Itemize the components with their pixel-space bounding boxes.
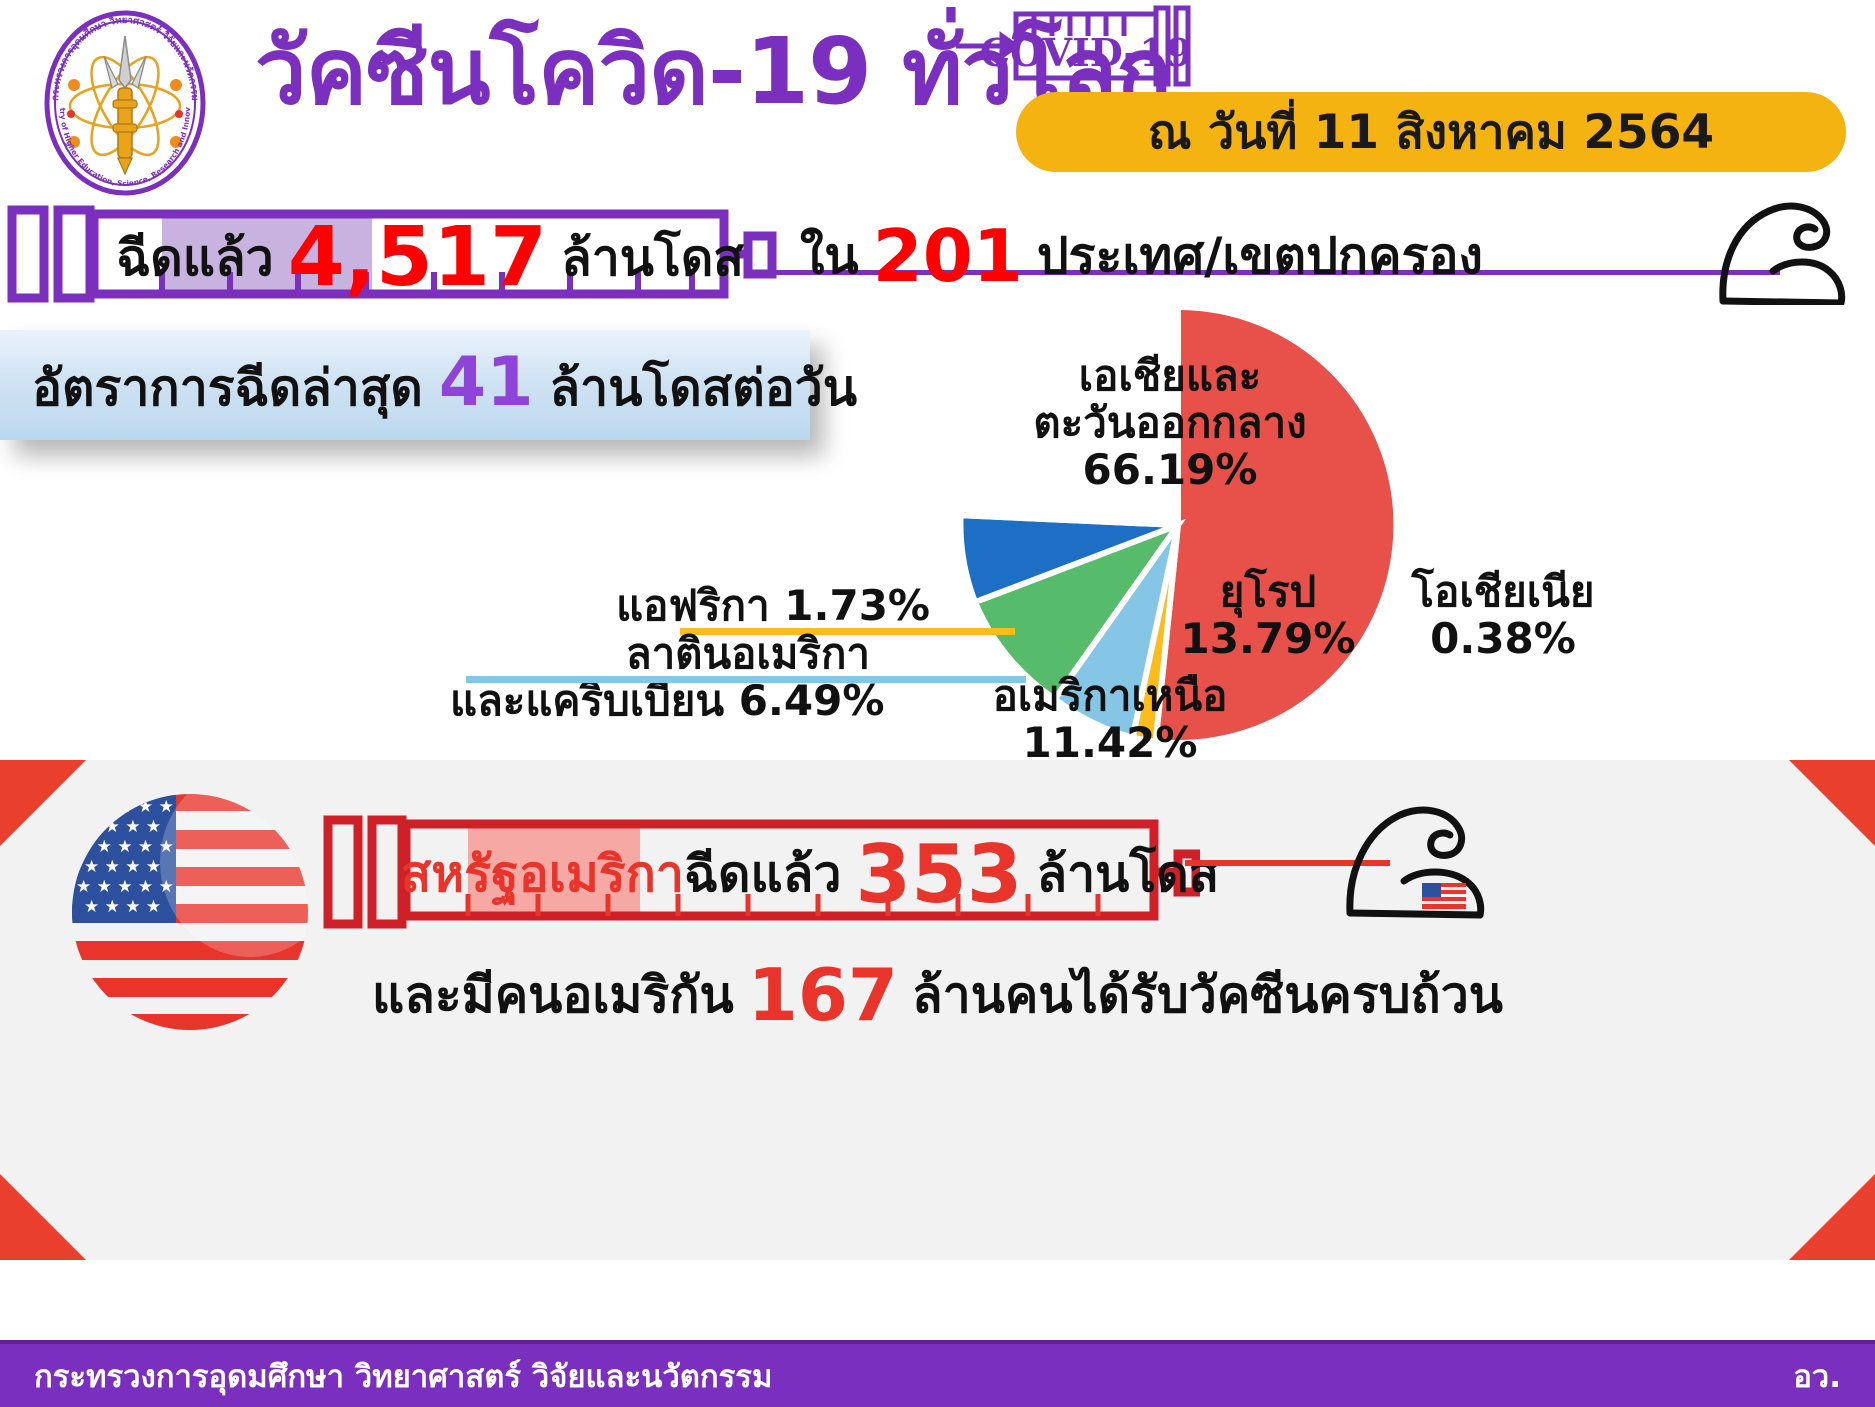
usa-dose-value: 353 — [855, 835, 1022, 915]
usa-line2-prefix: และมีคนอเมริกัน — [372, 956, 734, 1035]
usa-dose-unit: ล้านโดส — [1036, 835, 1219, 914]
pie-label-north-america: อเมริกาเหนือ 11.42% — [990, 672, 1230, 766]
date-badge: ณ วันที่ 11 สิงหาคม 2564 — [1016, 92, 1846, 172]
svg-text:★ ★ ★ ★: ★ ★ ★ ★ — [84, 817, 161, 837]
usa-country-label: สหรัฐอเมริกา — [401, 835, 684, 914]
footer-abbrev: อว. — [1793, 1351, 1841, 1401]
infographic-page: กระทรวงการอุดมศึกษา วิทยาศาสตร์ วิจัยและ… — [0, 0, 1875, 1407]
date-badge-text: ณ วันที่ 11 สิงหาคม 2564 — [1148, 94, 1714, 169]
countries-count: ใน 201 ประเทศ/เขตปกครอง — [800, 218, 1483, 294]
corner-accent-top-right — [1789, 760, 1875, 846]
pie-label-africa: แอฟริกา 1.73% — [560, 582, 930, 629]
global-dose-text: ฉีดแล้ว 4,517 ล้านโดส — [120, 218, 740, 298]
usa-line2-value: 167 — [748, 959, 898, 1031]
pie-label-asia: เอเชียและ ตะวันออกกลาง 66.19% — [1020, 352, 1320, 493]
covid-badge-text: COVID-19 — [980, 30, 1192, 75]
usa-dose-text: สหรัฐอเมริกา ฉีดแล้ว 353 ล้านโดส — [440, 822, 1180, 927]
flexed-bicep-icon — [1715, 185, 1855, 305]
usa-panel: ★ ★ ★ ★ ★ ★ ★ ★ ★ ★ ★ ★ ★ ★ ★ ★ ★ ★ ★ ★ … — [0, 760, 1875, 1260]
flexed-bicep-usa-icon — [1340, 785, 1500, 920]
countries-suffix: ประเทศ/เขตปกครอง — [1037, 217, 1483, 296]
usa-fully-vaccinated-text: และมีคนอเมริกัน 167 ล้านคนได้รับวัคซีนคร… — [0, 955, 1875, 1035]
usa-injected-label: ฉีดแล้ว — [684, 835, 841, 914]
usa-line2-suffix: ล้านคนได้รับวัคซีนครบถ้วน — [912, 956, 1503, 1035]
global-dose-unit: ล้านโดส — [561, 219, 744, 298]
usa-flag-patch-icon — [1422, 883, 1466, 909]
svg-text:★ ★ ★ ★ ★: ★ ★ ★ ★ ★ — [76, 837, 174, 857]
svg-text:★ ★ ★ ★ ★: ★ ★ ★ ★ ★ — [76, 797, 174, 817]
svg-text:★ ★ ★ ★ ★: ★ ★ ★ ★ ★ — [76, 877, 174, 897]
countries-value: 201 — [873, 220, 1023, 292]
rate-suffix: ล้านโดสต่อวัน — [550, 349, 858, 428]
global-dose-prefix: ฉีดแล้ว — [116, 219, 273, 298]
corner-accent-bottom-left — [0, 1174, 86, 1260]
corner-accent-bottom-right — [1789, 1174, 1875, 1260]
pie-label-europe: ยุโรป 13.79% — [1178, 568, 1358, 662]
svg-text:★ ★ ★ ★: ★ ★ ★ ★ — [84, 857, 161, 877]
rate-prefix: อัตราการฉีดล่าสุด — [32, 349, 423, 428]
pie-label-oceania: โอเชียเนีย 0.38% — [1378, 568, 1628, 662]
ministry-logo: กระทรวงการอุดมศึกษา วิทยาศาสตร์ วิจัยและ… — [30, 8, 220, 198]
rate-value: 41 — [439, 343, 534, 422]
svg-text:★ ★ ★ ★: ★ ★ ★ ★ — [84, 897, 161, 917]
covid-syringe-icon: COVID-19 — [950, 2, 1200, 92]
footer-ministry-name: กระทรวงการอุดมศึกษา วิทยาศาสตร์ วิจัยและ… — [34, 1351, 772, 1401]
countries-prefix: ใน — [800, 217, 859, 296]
source-row: ที่มา : Bloomberg, 11 สิงหาคม 2564 หน้า … — [0, 1268, 1875, 1338]
global-dose-value: 4,517 — [288, 217, 547, 299]
pie-leader-line-latin-america — [466, 676, 1026, 683]
daily-rate-banner: อัตราการฉีดล่าสุด 41 ล้านโดสต่อวัน — [0, 330, 810, 440]
footer-bar: กระทรวงการอุดมศึกษา วิทยาศาสตร์ วิจัยและ… — [0, 1340, 1875, 1407]
